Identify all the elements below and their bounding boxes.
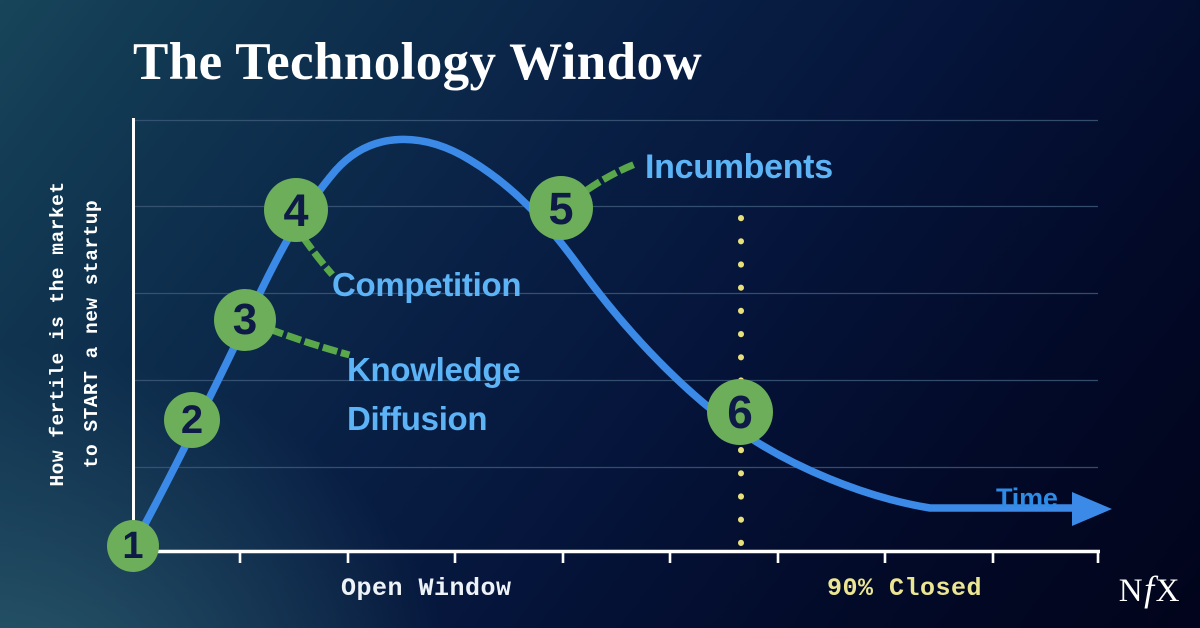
logo-f: f	[1143, 569, 1156, 609]
caption-90-percent-closed: 90% Closed	[827, 574, 982, 603]
stage-node-4-label: 4	[283, 188, 308, 233]
connector-knowledge-diffusion	[272, 330, 346, 354]
stage-node-5[interactable]: 5	[529, 176, 593, 240]
logo-n: N	[1119, 573, 1143, 609]
stage-node-1[interactable]: 1	[107, 520, 159, 572]
annotation-competition: Competition	[332, 266, 521, 304]
infographic-canvas: The Technology Window How fertile is the…	[0, 0, 1200, 628]
stage-node-6[interactable]: 6	[707, 379, 773, 445]
stage-node-3[interactable]: 3	[214, 289, 276, 351]
connector-incumbents	[590, 163, 638, 188]
caption-open-window: Open Window	[341, 574, 512, 603]
connector-competition	[305, 240, 330, 272]
logo-x: X	[1156, 573, 1180, 609]
nfx-logo[interactable]: NfX	[1119, 571, 1180, 608]
stage-node-3-label: 3	[233, 298, 257, 342]
stage-node-5-label: 5	[548, 186, 573, 231]
stage-node-2[interactable]: 2	[164, 392, 220, 448]
annotation-knowledge-line2: Diffusion	[347, 394, 520, 443]
chart-plot	[0, 0, 1200, 628]
annotation-incumbents: Incumbents	[645, 148, 833, 187]
annotation-knowledge-line1: Knowledge	[347, 351, 520, 388]
stage-node-6-label: 6	[727, 389, 753, 435]
stage-node-1-label: 1	[122, 527, 143, 565]
stage-node-4[interactable]: 4	[264, 178, 328, 242]
stage-node-2-label: 2	[181, 400, 203, 440]
time-arrow-head	[1072, 492, 1112, 526]
annotation-knowledge-diffusion: Knowledge Diffusion	[347, 345, 520, 443]
x-axis-title: Time	[996, 483, 1058, 514]
